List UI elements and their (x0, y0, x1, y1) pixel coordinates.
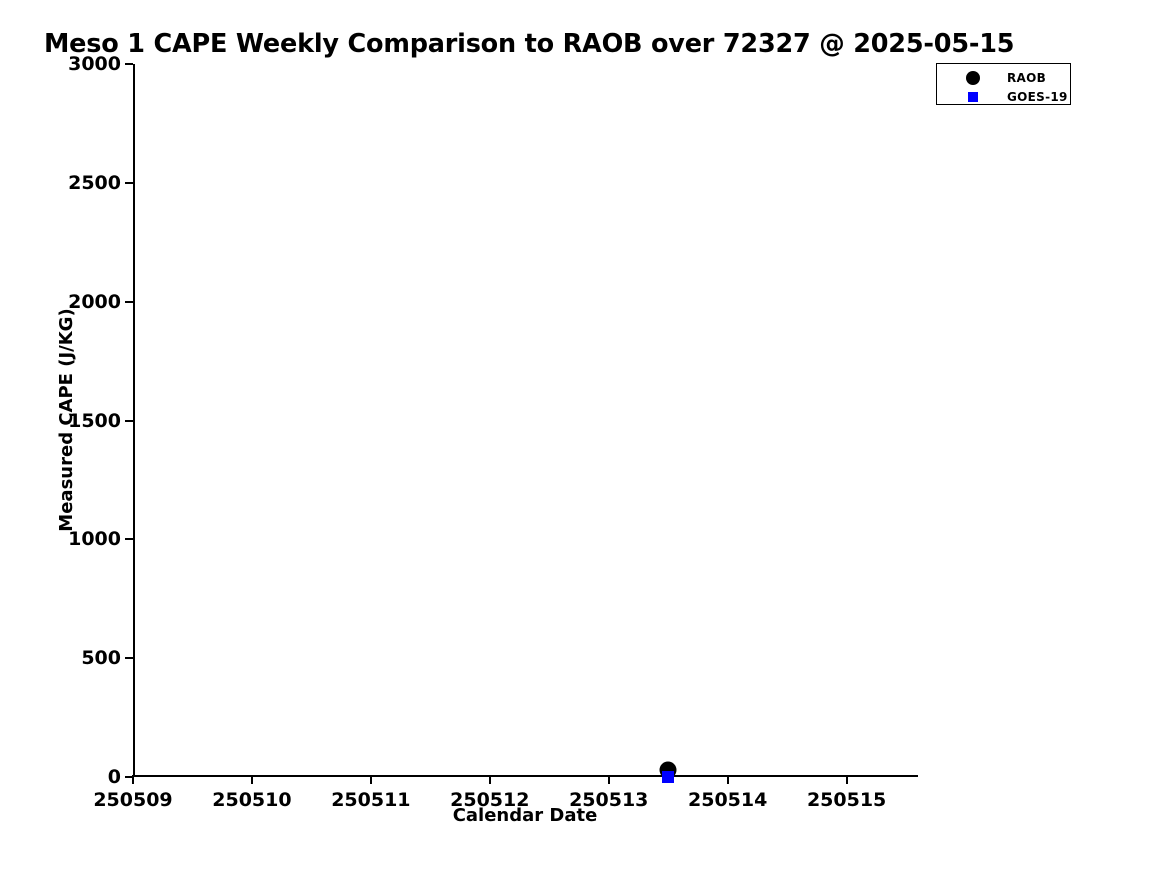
chart-figure: Meso 1 CAPE Weekly Comparison to RAOB ov… (0, 0, 1167, 875)
y-tick-mark (125, 657, 133, 659)
x-tick-mark (489, 775, 491, 784)
chart-legend: RAOBGOES-19 (936, 63, 1071, 105)
legend-marker-cell (968, 92, 978, 102)
x-tick-label: 250511 (331, 789, 410, 811)
legend-label: RAOB (1007, 71, 1046, 85)
y-tick-mark (125, 538, 133, 540)
x-tick-mark (608, 775, 610, 784)
y-tick-label: 3000 (68, 53, 121, 75)
legend-marker-circle-icon (966, 71, 980, 85)
y-tick-label: 2500 (68, 172, 121, 194)
x-tick-mark (370, 775, 372, 784)
legend-marker-square-icon (968, 92, 978, 102)
y-axis-spine (133, 64, 135, 777)
x-tick-label: 250515 (807, 789, 886, 811)
x-tick-mark (132, 775, 134, 784)
legend-item-goes-19[interactable]: GOES-19 (937, 86, 1070, 107)
x-tick-label: 250509 (93, 789, 172, 811)
y-tick-label: 0 (108, 766, 121, 788)
y-tick-mark (125, 63, 133, 65)
x-tick-label: 250514 (688, 789, 767, 811)
legend-marker-cell (966, 71, 980, 85)
data-point-goes-19 (662, 771, 674, 783)
y-tick-mark (125, 301, 133, 303)
y-tick-mark (125, 420, 133, 422)
y-tick-label: 500 (81, 647, 121, 669)
chart-title: Meso 1 CAPE Weekly Comparison to RAOB ov… (44, 29, 1014, 59)
x-axis-label: Calendar Date (453, 805, 598, 826)
y-axis-label: Measured CAPE (J/KG) (56, 308, 77, 531)
plot-area: 050010001500200025003000 250509250510250… (133, 64, 918, 777)
y-tick-mark (125, 182, 133, 184)
x-tick-label: 250510 (212, 789, 291, 811)
x-tick-mark (846, 775, 848, 784)
legend-label: GOES-19 (1007, 90, 1068, 104)
x-tick-mark (251, 775, 253, 784)
legend-item-raob[interactable]: RAOB (937, 67, 1070, 88)
x-tick-mark (727, 775, 729, 784)
